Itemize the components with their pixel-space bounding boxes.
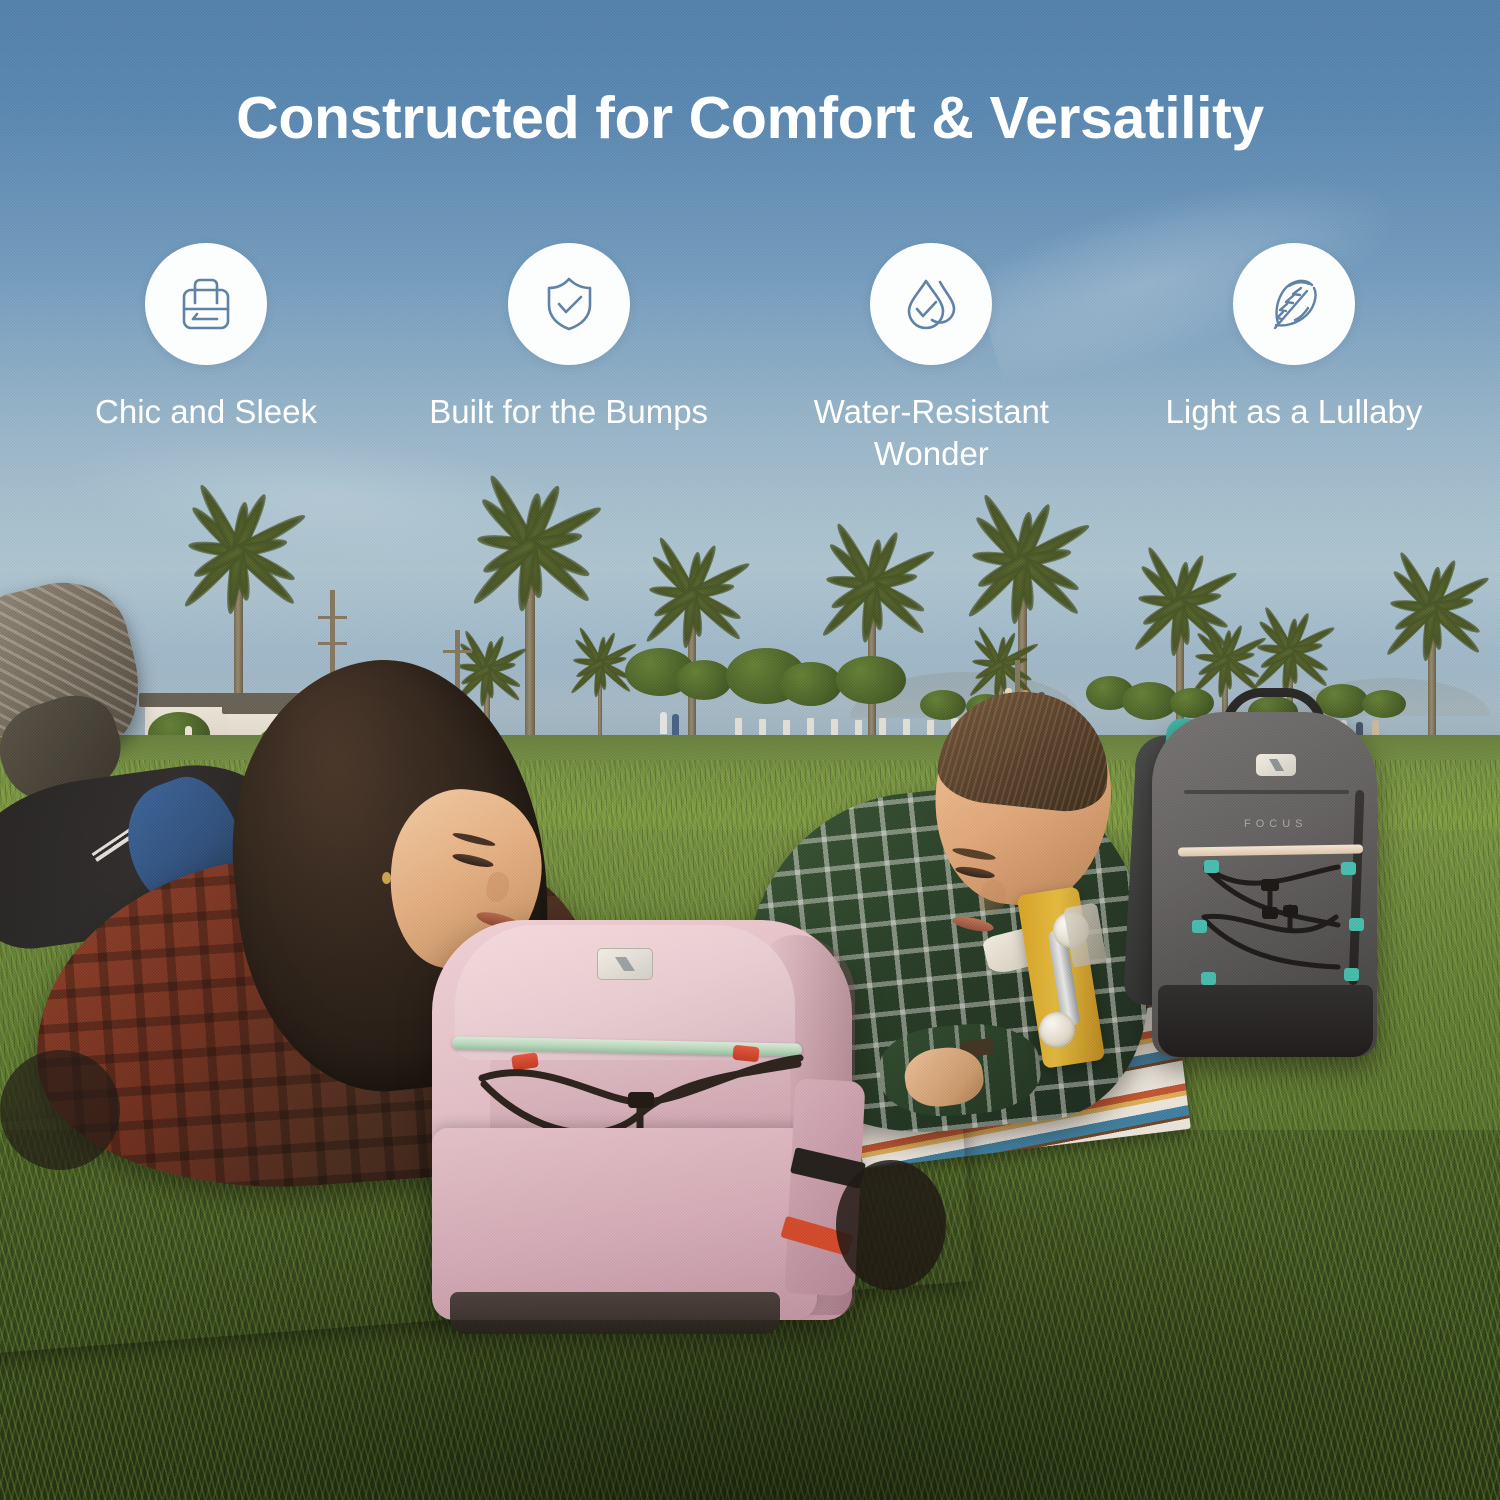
- gray-backpack-seam: [1184, 790, 1349, 794]
- feather-icon-glyph: [1262, 272, 1326, 336]
- gray-backpack-teal-tab: [1201, 972, 1216, 985]
- shield-check-icon: [508, 243, 630, 365]
- shrub: [836, 656, 906, 704]
- zipper-pull: [732, 1045, 759, 1063]
- feature-label: Water-Resistant Wonder: [786, 391, 1076, 475]
- gray-backpack-teal-tab: [1349, 918, 1364, 931]
- feature-label: Built for the Bumps: [429, 391, 708, 433]
- feature-water-resistant-wonder: Water-Resistant Wonder: [785, 243, 1077, 475]
- gray-backpack-brand-text: FOCUS: [1244, 818, 1308, 830]
- gray-backpack-teal-tab: [1192, 920, 1207, 933]
- page-title: Constructed for Comfort & Versatility: [0, 86, 1500, 151]
- gray-backpack-logo-patch: [1256, 754, 1296, 776]
- foreground-dark-object: [836, 1160, 946, 1290]
- distant-person: [672, 714, 679, 736]
- water-drop-check-icon-glyph: [900, 273, 962, 335]
- gray-backpack-teal-tab: [1344, 968, 1359, 981]
- shrub: [920, 690, 966, 720]
- gray-backpack-bottom-panel: [1158, 985, 1373, 1057]
- skateboard-wheel: [1039, 1012, 1075, 1048]
- feature-label: Chic and Sleek: [95, 391, 317, 433]
- feature-row: Chic and Sleek Built for the Bumps: [0, 243, 1500, 475]
- pink-backpack-logo-patch: [597, 948, 653, 980]
- water-drop-check-icon: [870, 243, 992, 365]
- graphic-overlay: Constructed for Comfort & Versatility Ch: [0, 0, 1500, 500]
- woman-earring: [382, 872, 391, 884]
- shrub: [676, 660, 732, 700]
- backpack-icon: [145, 243, 267, 365]
- shrub: [1362, 690, 1406, 718]
- feature-chic-and-sleek: Chic and Sleek: [60, 243, 352, 475]
- distant-person: [660, 712, 667, 734]
- gray-backpack-teal-tab: [1204, 860, 1219, 873]
- foreground-dark-object: [0, 1050, 120, 1170]
- shrub: [1316, 684, 1368, 718]
- backpack-icon-glyph: [175, 273, 237, 335]
- shield-check-icon-glyph: [538, 273, 600, 335]
- pink-backpack-base: [450, 1292, 780, 1334]
- pole-crossarm: [318, 642, 347, 645]
- feature-label: Light as a Lullaby: [1166, 391, 1423, 433]
- pole-crossarm: [443, 650, 472, 653]
- feature-built-for-the-bumps: Built for the Bumps: [423, 243, 715, 475]
- gray-backpack-teal-tab: [1341, 862, 1356, 875]
- pole-crossarm: [318, 616, 347, 619]
- feature-light-as-a-lullaby: Light as a Lullaby: [1148, 243, 1440, 475]
- infographic-canvas: FOCUS: [0, 0, 1500, 1500]
- shrub: [780, 662, 842, 706]
- feather-icon: [1233, 243, 1355, 365]
